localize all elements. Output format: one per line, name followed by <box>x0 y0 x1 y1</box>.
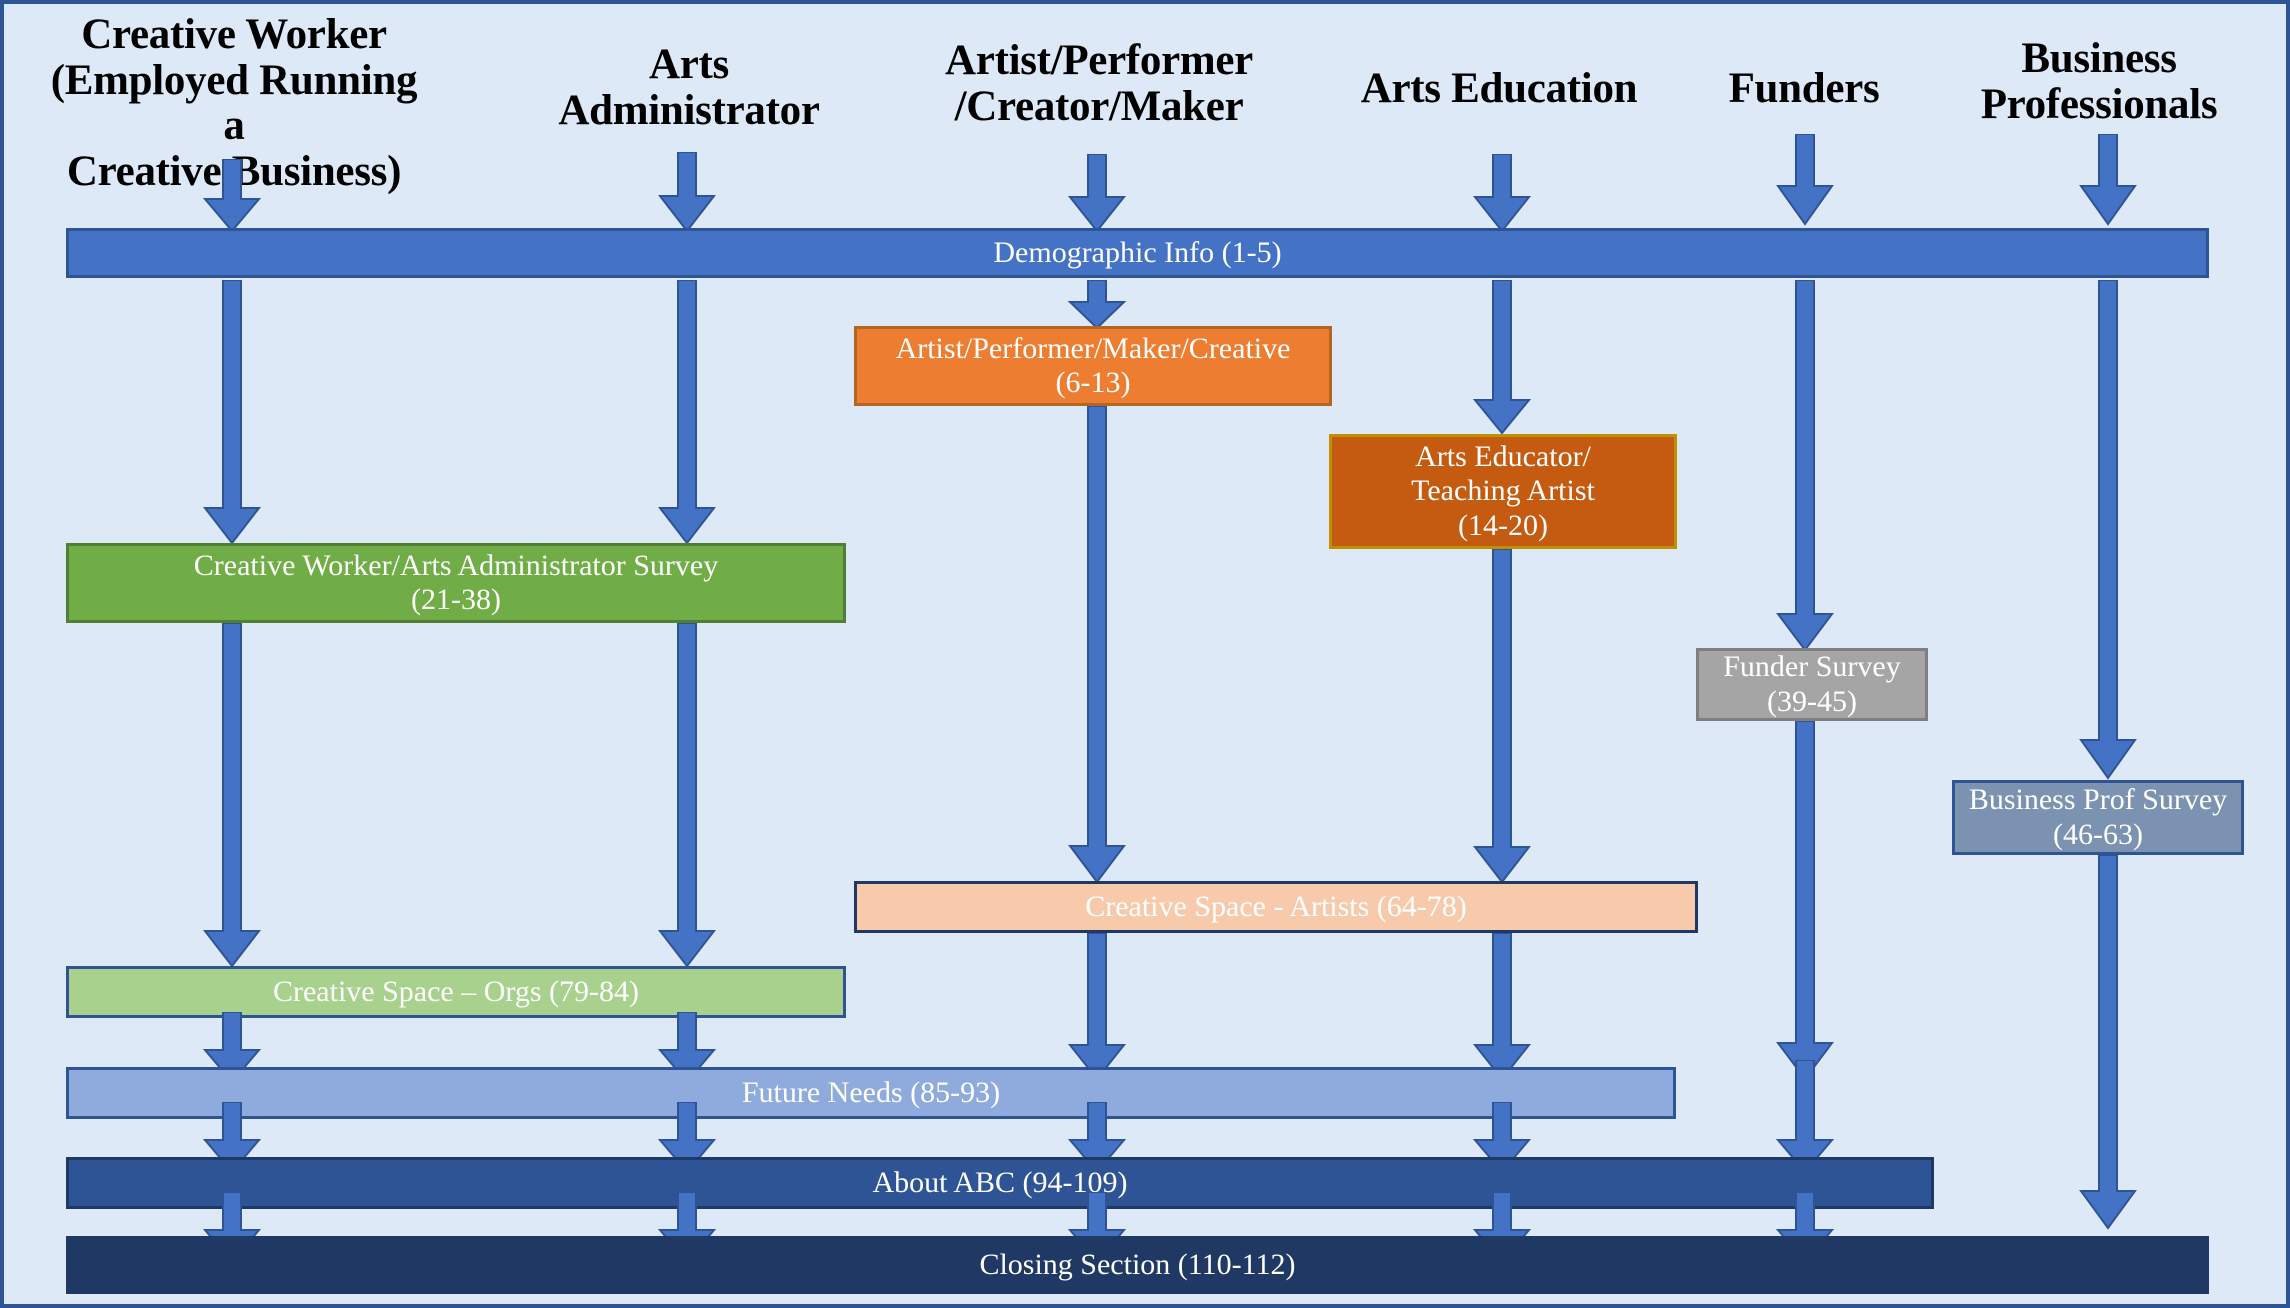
arrow-creative-space-artists-to-future-needs-2 <box>1471 933 1533 1081</box>
node-label-line-2: Teaching Artist <box>1411 474 1595 509</box>
arrow-artist-performer-to-demographic <box>1066 154 1128 232</box>
arrow-business-prof-survey-to-closing <box>2077 855 2139 1230</box>
node-label: Creative Space – Orgs (79-84) <box>273 975 639 1010</box>
arrow-arts-administrator-to-demographic <box>656 152 718 232</box>
node-label-line-1: Business Prof Survey <box>1969 783 2227 818</box>
arrow-demographic-to-business-prof-survey <box>2077 280 2139 780</box>
node-funder-survey[interactable]: Funder Survey (39-45) <box>1696 648 1928 721</box>
node-label-line-3: (14-20) <box>1458 509 1548 544</box>
node-creative-space-orgs[interactable]: Creative Space – Orgs (79-84) <box>66 966 846 1018</box>
node-label-line-1: Creative Worker/Arts Administrator Surve… <box>194 549 718 584</box>
arrow-funders-to-demographic <box>1774 134 1836 226</box>
arrow-cw-survey-to-creative-space-orgs-2 <box>656 623 718 968</box>
node-label-line-2: (46-63) <box>2053 818 2143 853</box>
column-heading-business-professionals: Business Professionals <box>1934 36 2264 127</box>
node-label-line-1: Funder Survey <box>1723 650 1900 685</box>
node-closing-section[interactable]: Closing Section (110-112) <box>66 1236 2209 1294</box>
arrow-artist-box-to-creative-space-artists <box>1066 406 1128 884</box>
node-demographic-info[interactable]: Demographic Info (1-5) <box>66 228 2209 278</box>
column-heading-funders: Funders <box>1684 66 1924 112</box>
arrow-creative-space-artists-to-future-needs <box>1066 933 1128 1081</box>
node-label: Closing Section (110-112) <box>979 1248 1295 1283</box>
node-label: Future Needs (85-93) <box>742 1076 1000 1111</box>
column-heading-line: /Creator/Maker <box>904 84 1294 130</box>
column-heading-line: Arts Education <box>1324 66 1674 112</box>
node-label-line-2: (21-38) <box>411 583 501 618</box>
node-creative-worker-arts-admin-survey[interactable]: Creative Worker/Arts Administrator Surve… <box>66 543 846 623</box>
node-label: Creative Space - Artists (64-78) <box>1085 890 1467 925</box>
arrow-demographic-to-arts-educator <box>1471 280 1533 435</box>
arrow-cw-survey-to-creative-space-orgs <box>201 623 263 968</box>
arrow-creative-worker-to-demographic <box>201 159 263 232</box>
column-heading-line: Arts <box>534 42 844 88</box>
column-heading-line: Funders <box>1684 66 1924 112</box>
arrow-demographic-to-artist-box <box>1066 280 1128 330</box>
column-heading-line: (Employed Running a <box>44 58 424 149</box>
arrow-demographic-to-funder-survey <box>1774 280 1836 652</box>
node-label-line-1: Arts Educator/ <box>1415 440 1591 475</box>
node-future-needs[interactable]: Future Needs (85-93) <box>66 1067 1676 1119</box>
column-heading-line: Creative Worker <box>44 12 424 58</box>
arrow-funder-survey-to-future-needs <box>1774 721 1836 1081</box>
survey-flow-diagram: Creative Worker (Employed Running a Crea… <box>0 0 2290 1308</box>
column-heading-line: Administrator <box>534 88 844 134</box>
column-heading-artist-performer: Artist/Performer /Creator/Maker <box>904 38 1294 129</box>
node-creative-space-artists[interactable]: Creative Space - Artists (64-78) <box>854 881 1698 933</box>
column-heading-line: Professionals <box>1934 82 2264 128</box>
arrow-demographic-to-cw-survey-2 <box>656 280 718 545</box>
node-label-line-1: Artist/Performer/Maker/Creative <box>896 332 1291 367</box>
column-heading-line: Artist/Performer <box>904 38 1294 84</box>
arrow-demographic-to-cw-survey <box>201 280 263 545</box>
arrow-arts-education-to-demographic <box>1471 154 1533 232</box>
node-arts-educator-teaching-artist[interactable]: Arts Educator/ Teaching Artist (14-20) <box>1329 434 1677 549</box>
column-heading-line: Business <box>1934 36 2264 82</box>
node-business-prof-survey[interactable]: Business Prof Survey (46-63) <box>1952 780 2244 855</box>
node-label-line-2: (39-45) <box>1767 685 1857 720</box>
node-about-abc[interactable]: About ABC (94-109) <box>66 1157 1934 1209</box>
node-artist-performer-maker-creative[interactable]: Artist/Performer/Maker/Creative (6-13) <box>854 326 1332 406</box>
arrow-business-professionals-to-demographic <box>2077 134 2139 226</box>
column-heading-arts-education: Arts Education <box>1324 66 1674 112</box>
node-label: Demographic Info (1-5) <box>993 236 1281 271</box>
column-heading-arts-administrator: Arts Administrator <box>534 42 844 133</box>
arrow-arts-educator-to-creative-space-artists <box>1471 549 1533 884</box>
node-label-line-2: (6-13) <box>1056 366 1131 401</box>
